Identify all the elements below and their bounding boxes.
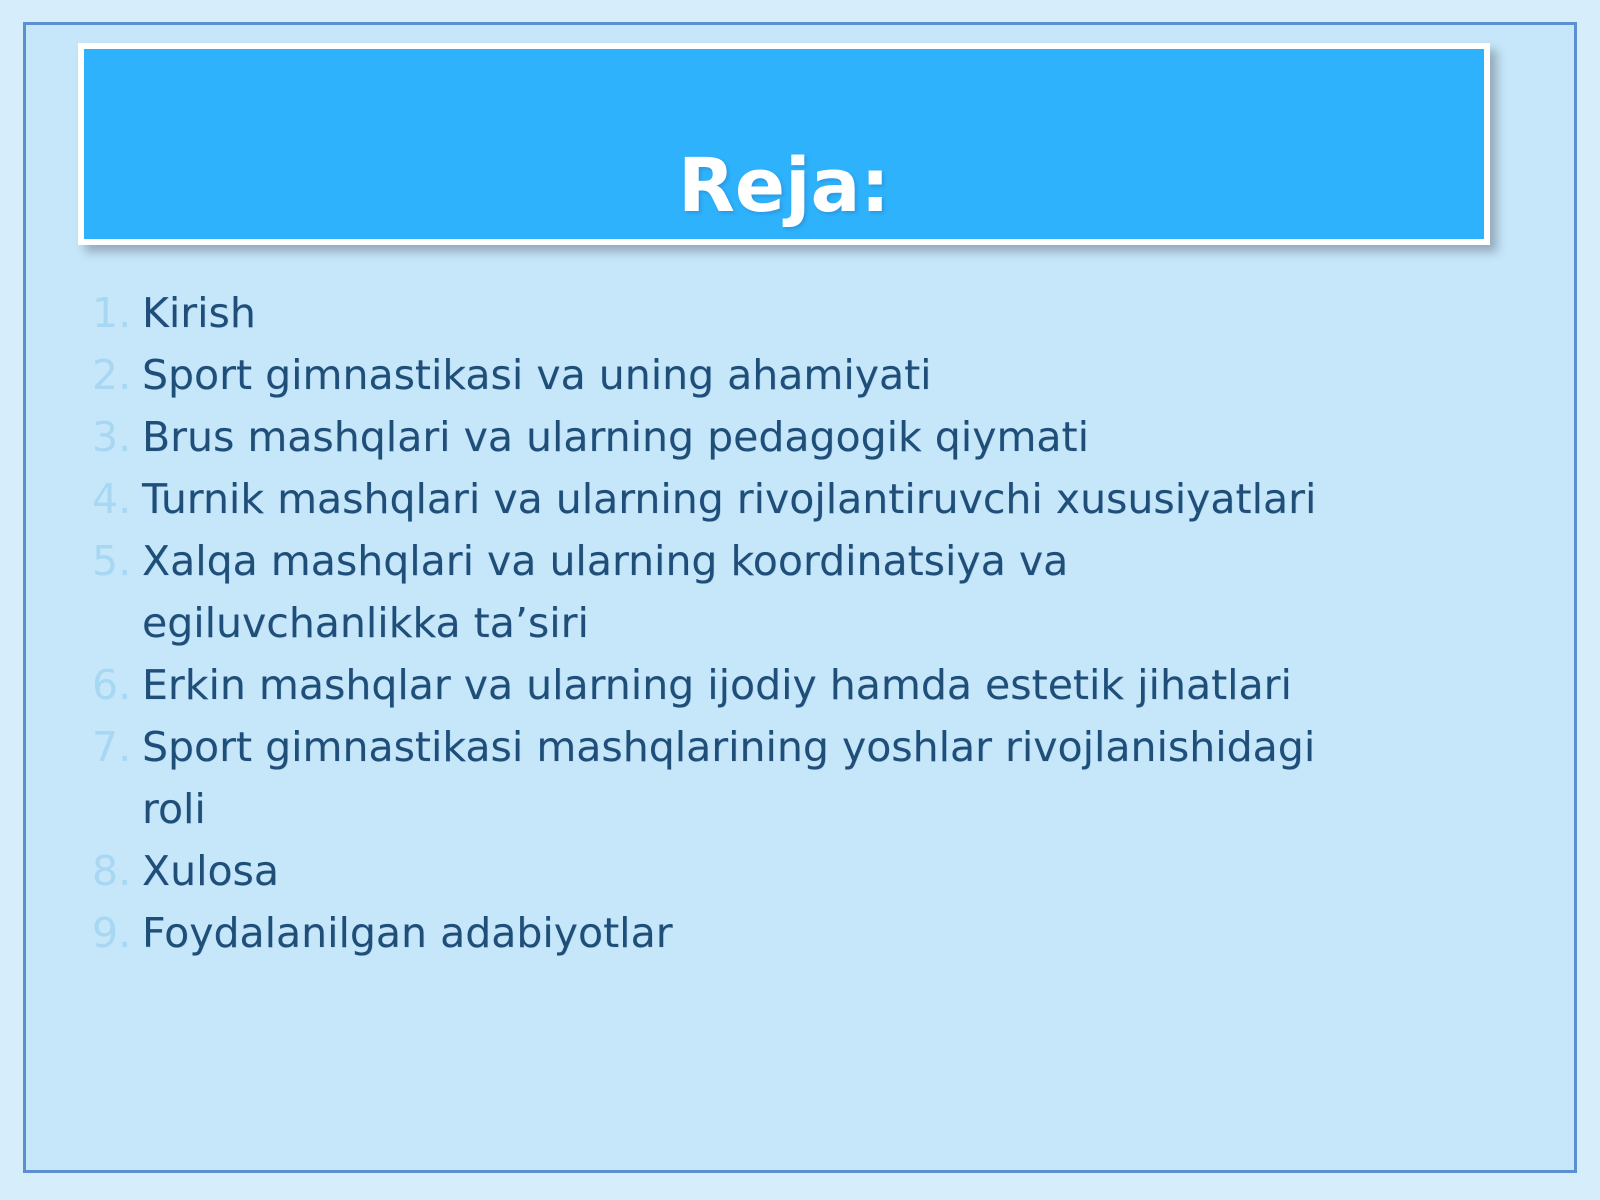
page-title: Reja: <box>678 149 890 239</box>
list-item: 2. Sport gimnastikasi va uning ahamiyati <box>92 344 1492 406</box>
list-item: 6. Erkin mashqlar va ularning ijodiy ham… <box>92 654 1492 716</box>
presentation-slide: Reja: 1. Kirish 2. Sport gimnastikasi va… <box>0 0 1600 1200</box>
list-item: 8. Xulosa <box>92 840 1492 902</box>
list-item-label: Kirish <box>142 282 1492 344</box>
list-item-number: 9. <box>92 902 142 964</box>
list-item: 7. Sport gimnastikasi mashqlarining yosh… <box>92 716 1492 840</box>
list-item: 4. Turnik mashqlari va ularning rivojlan… <box>92 468 1492 530</box>
list-item-label: Xalqa mashqlari va ularning koordinatsiy… <box>142 530 1492 654</box>
list-item-label: Brus mashqlari va ularning pedagogik qiy… <box>142 406 1492 468</box>
list-item-number: 7. <box>92 716 142 778</box>
list-item-label: Sport gimnastikasi va uning ahamiyati <box>142 344 1492 406</box>
plan-list: 1. Kirish 2. Sport gimnastikasi va uning… <box>92 282 1492 964</box>
list-item-number: 3. <box>92 406 142 468</box>
list-item: 1. Kirish <box>92 282 1492 344</box>
list-item-label: Sport gimnastikasi mashqlarining yoshlar… <box>142 716 1492 840</box>
list-item-number: 1. <box>92 282 142 344</box>
list-item: 3. Brus mashqlari va ularning pedagogik … <box>92 406 1492 468</box>
list-item-label: Turnik mashqlari va ularning rivojlantir… <box>142 468 1492 530</box>
list-item: 9. Foydalanilgan adabiyotlar <box>92 902 1492 964</box>
list-item-number: 8. <box>92 840 142 902</box>
list-item-label: Foydalanilgan adabiyotlar <box>142 902 1492 964</box>
list-item-number: 4. <box>92 468 142 530</box>
list-item-label: Xulosa <box>142 840 1492 902</box>
title-banner: Reja: <box>78 43 1490 245</box>
list-item-number: 2. <box>92 344 142 406</box>
list-item: 5. Xalqa mashqlari va ularning koordinat… <box>92 530 1492 654</box>
list-item-label: Erkin mashqlar va ularning ijodiy hamda … <box>142 654 1492 716</box>
list-item-number: 6. <box>92 654 142 716</box>
list-item-number: 5. <box>92 530 142 592</box>
